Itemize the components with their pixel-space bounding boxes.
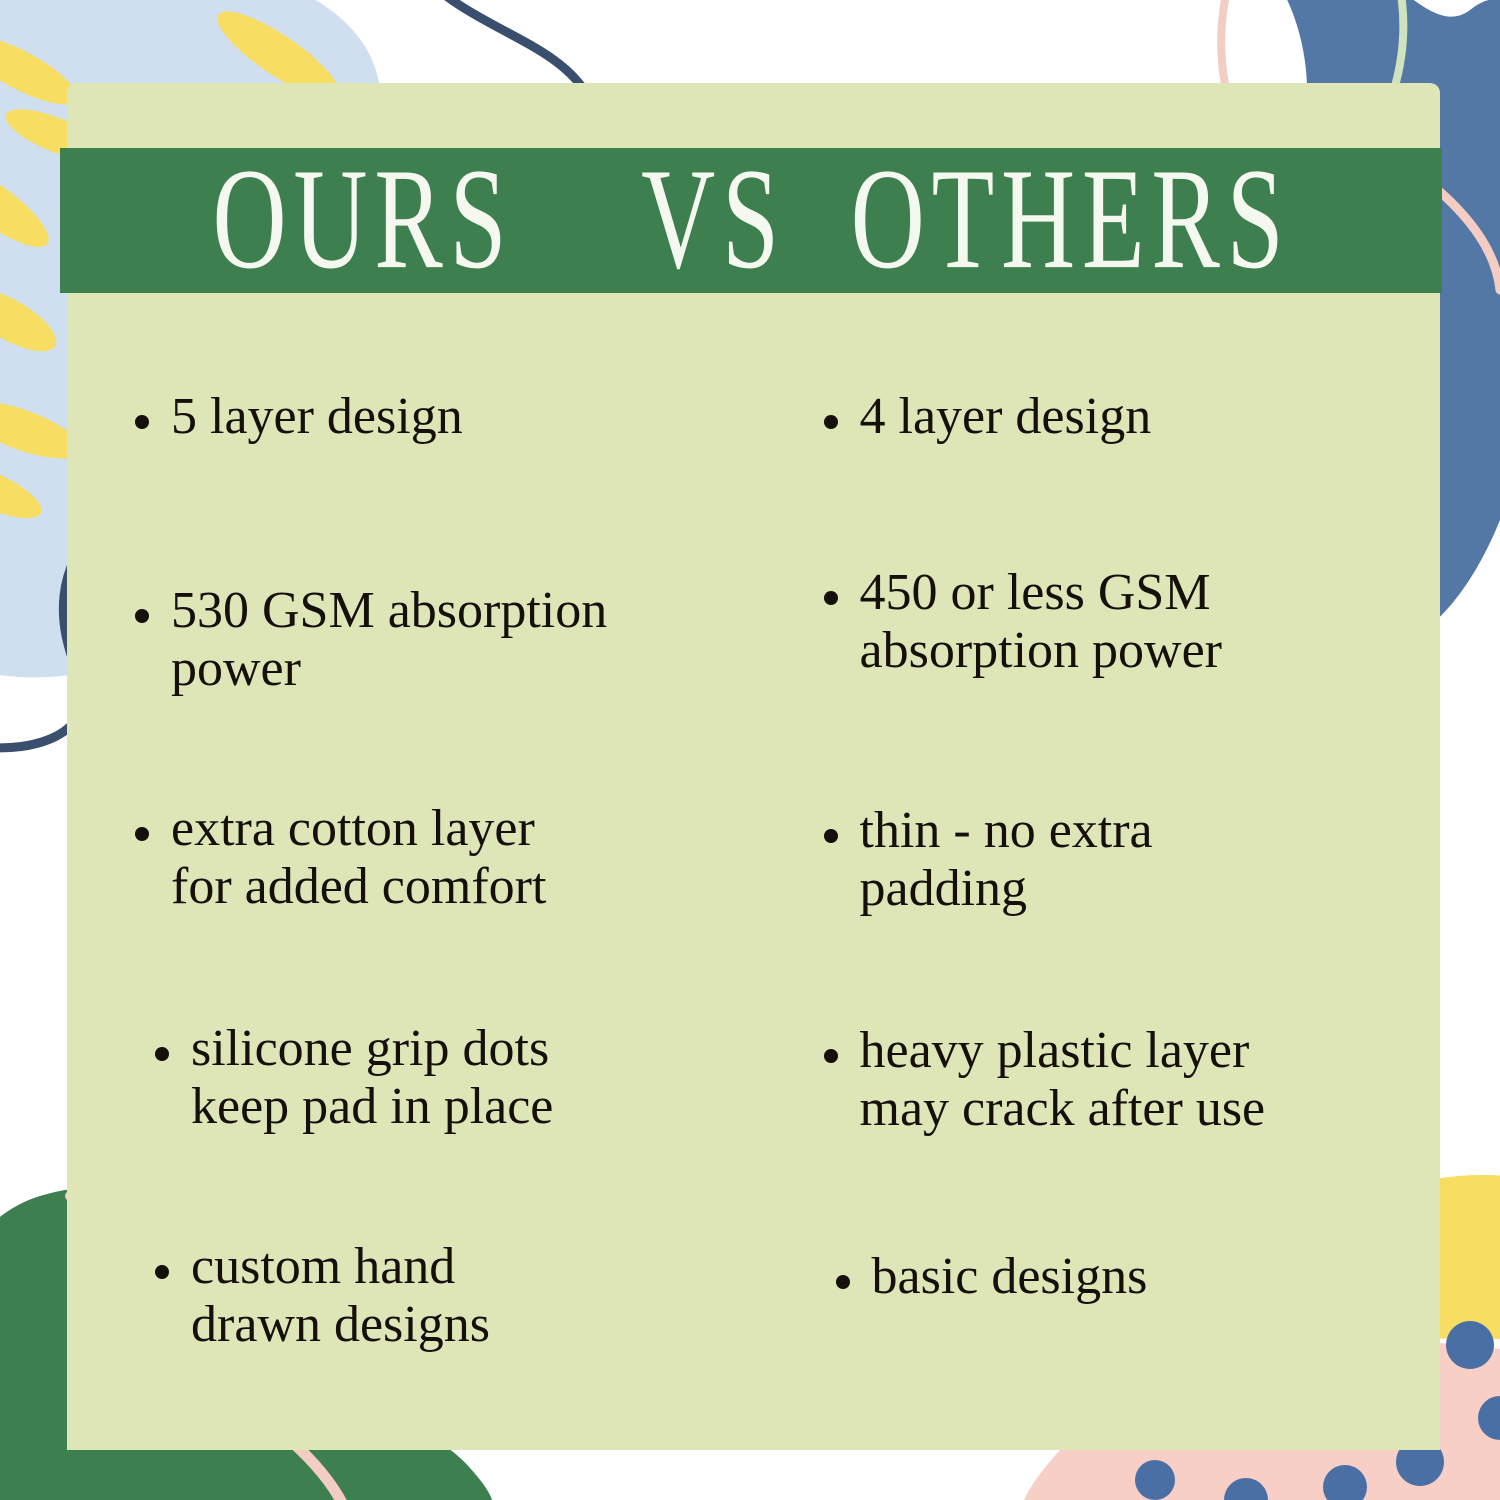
list-item-label: basic designs bbox=[872, 1248, 1148, 1306]
bullet-dot-icon bbox=[824, 1049, 838, 1063]
comparison-header-band: OURS VS OTHERS bbox=[60, 148, 1442, 293]
list-item: extra cotton layer for added comfort bbox=[135, 800, 735, 916]
list-item-label: 5 layer design bbox=[171, 388, 463, 446]
list-item: thin - no extra padding bbox=[824, 802, 1384, 918]
list-item: basic designs bbox=[836, 1248, 1396, 1306]
bullet-dot-icon bbox=[824, 829, 838, 843]
bullet-dot-icon bbox=[135, 609, 149, 623]
list-item: 5 layer design bbox=[135, 388, 735, 446]
list-item-label: extra cotton layer for added comfort bbox=[171, 800, 546, 916]
bullet-dot-icon bbox=[824, 591, 838, 605]
column-ours: 5 layer design 530 GSM absorption power … bbox=[67, 310, 754, 1450]
list-item-label: heavy plastic layer may crack after use bbox=[860, 1022, 1266, 1138]
list-item: heavy plastic layer may crack after use bbox=[824, 1022, 1404, 1138]
bullet-dot-icon bbox=[836, 1275, 850, 1289]
comparison-columns: 5 layer design 530 GSM absorption power … bbox=[67, 310, 1440, 1450]
bullet-dot-icon bbox=[155, 1047, 169, 1061]
list-item: 4 layer design bbox=[824, 388, 1384, 446]
list-item-label: custom hand drawn designs bbox=[191, 1238, 490, 1354]
list-item-label: thin - no extra padding bbox=[860, 802, 1153, 918]
column-others: 4 layer design 450 or less GSM absorptio… bbox=[754, 310, 1441, 1450]
list-item-label: 450 or less GSM absorption power bbox=[860, 564, 1222, 680]
infographic-canvas: OURS VS OTHERS 5 layer design 530 GSM ab… bbox=[0, 0, 1500, 1500]
bullet-dot-icon bbox=[824, 415, 838, 429]
list-item-label: 4 layer design bbox=[860, 388, 1152, 446]
list-item-label: 530 GSM absorption power bbox=[171, 582, 607, 698]
bullet-dot-icon bbox=[135, 415, 149, 429]
page-title: OURS VS OTHERS bbox=[212, 148, 1290, 292]
list-item-label: silicone grip dots keep pad in place bbox=[191, 1020, 553, 1136]
bullet-dot-icon bbox=[135, 827, 149, 841]
list-item: custom hand drawn designs bbox=[155, 1238, 755, 1354]
list-item: 450 or less GSM absorption power bbox=[824, 564, 1384, 680]
bullet-dot-icon bbox=[155, 1265, 169, 1279]
list-item: 530 GSM absorption power bbox=[135, 582, 745, 698]
list-item: silicone grip dots keep pad in place bbox=[155, 1020, 755, 1136]
